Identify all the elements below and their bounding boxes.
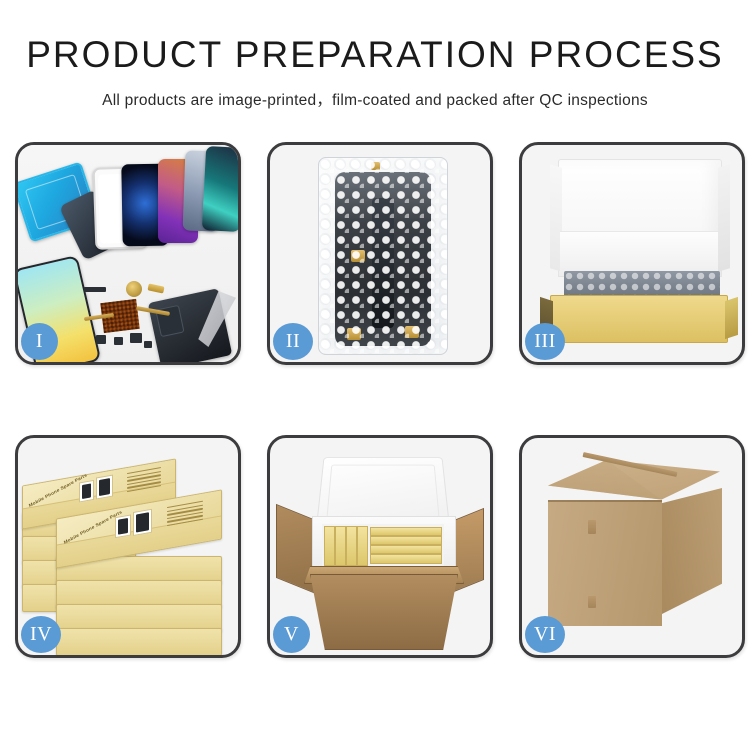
packed-box xyxy=(370,536,442,545)
process-step-grid: I II III xyxy=(15,142,736,658)
phone-teal-screen-graphic xyxy=(202,146,238,232)
step-badge-1: I xyxy=(21,323,58,360)
chip-graphic xyxy=(144,341,152,348)
step-badge-3: III xyxy=(525,323,565,360)
packed-box xyxy=(324,526,335,566)
process-step-panel-1: I xyxy=(15,142,241,365)
carton-edge-seam xyxy=(548,500,662,502)
packed-box xyxy=(335,526,346,566)
packed-box xyxy=(357,526,368,566)
packed-box xyxy=(346,526,357,566)
process-step-panel-5: V xyxy=(267,435,493,658)
step-badge-2: II xyxy=(273,323,313,360)
packed-box xyxy=(370,545,442,554)
process-step-panel-6: VI xyxy=(519,435,745,658)
packed-box xyxy=(370,554,442,564)
kraft-box-body-graphic xyxy=(550,295,728,343)
chip-graphic xyxy=(96,335,106,344)
carton-side-face-graphic xyxy=(662,488,722,614)
process-step-panel-3: III xyxy=(519,142,745,365)
box-screen-thumbnail xyxy=(133,509,152,536)
bubble-wrap-bag-graphic xyxy=(318,157,448,355)
chip-graphic xyxy=(84,287,106,292)
speaker-coil-graphic xyxy=(126,281,142,297)
step-badge-6: VI xyxy=(525,616,565,653)
box-screen-thumbnail xyxy=(115,514,131,538)
carton-front-face-graphic xyxy=(548,500,662,626)
carton-staple-graphic xyxy=(588,520,596,534)
step-badge-4: IV xyxy=(21,616,61,653)
stacked-box xyxy=(56,628,222,655)
bubble-gloss-overlay xyxy=(319,158,447,354)
box-screen-thumbnail xyxy=(79,480,94,503)
process-step-panel-4: Mobile Phone Spare Parts Mobile Phone Sp… xyxy=(15,435,241,658)
page-header: PRODUCT PREPARATION PROCESS All products… xyxy=(0,0,750,110)
foam-sheet-graphic xyxy=(560,231,718,276)
gold-connector-graphic xyxy=(147,283,164,293)
carton-body-graphic xyxy=(310,574,458,650)
chip-graphic xyxy=(130,333,142,343)
packed-boxes-group xyxy=(322,524,444,566)
page-title: PRODUCT PREPARATION PROCESS xyxy=(0,36,750,73)
packed-box xyxy=(370,527,442,536)
step-badge-5: V xyxy=(273,616,310,653)
page-subtitle: All products are image-printed，film-coat… xyxy=(0,88,750,110)
chip-graphic xyxy=(114,337,123,345)
process-step-panel-2: II xyxy=(267,142,493,365)
carton-staple-graphic xyxy=(588,596,596,608)
box-spec-lines xyxy=(127,467,161,494)
box-screen-thumbnail xyxy=(96,475,113,500)
